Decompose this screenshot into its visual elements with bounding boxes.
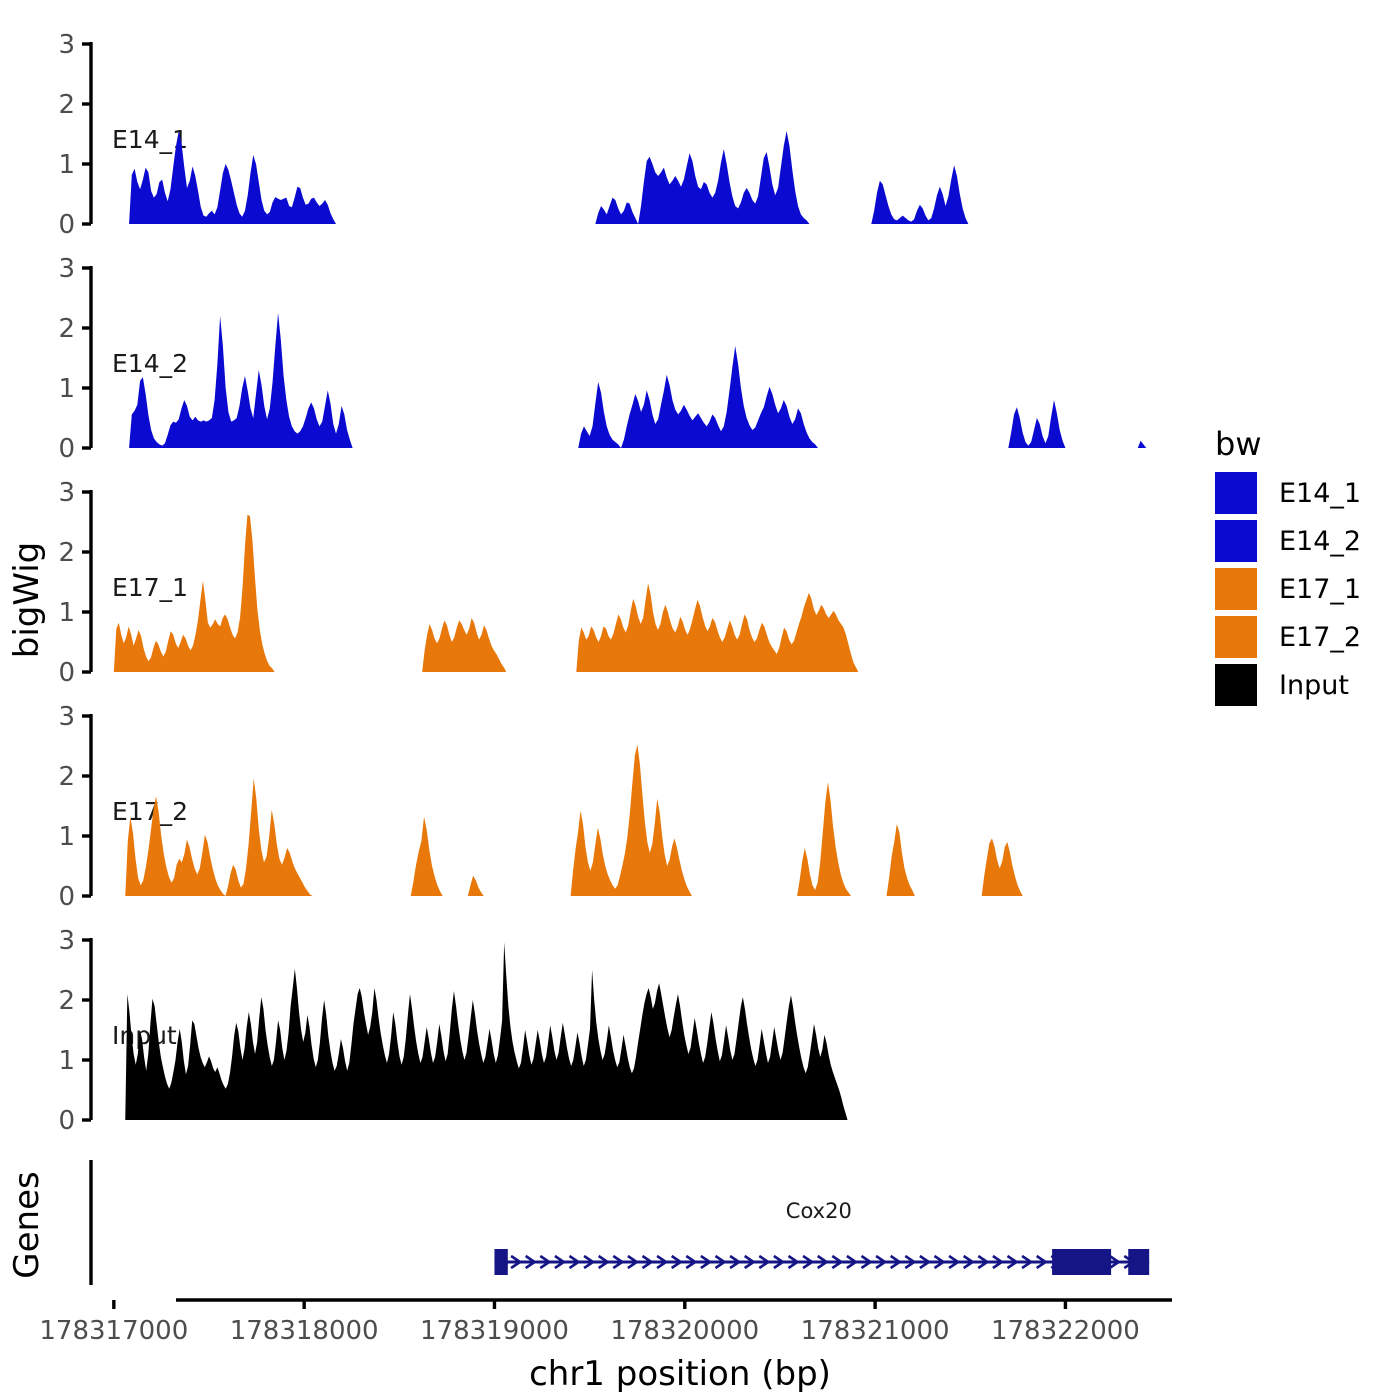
legend-title: bw [1215,425,1261,463]
track-label-e17_2: E17_2 [112,797,188,826]
legend-item-input[interactable]: Input [1215,664,1349,706]
x-tick-label: 178320000 [610,1316,759,1346]
legend-item-e17_1[interactable]: E17_1 [1215,568,1361,610]
x-tick-label: 178317000 [39,1316,188,1346]
track-label-input: Input [112,1021,177,1050]
track-label-e17_1: E17_1 [112,573,188,602]
y-tick-label: 0 [58,210,75,240]
legend-item-e17_2[interactable]: E17_2 [1215,616,1361,658]
x-tick-label: 178319000 [420,1316,569,1346]
gene-exon[interactable] [494,1249,507,1275]
legend-swatch [1215,472,1257,514]
y-tick-label: 3 [58,478,75,508]
gene-name-label: Cox20 [786,1199,852,1223]
legend-item-e14_1[interactable]: E14_1 [1215,472,1361,514]
gene-exon[interactable] [1052,1249,1111,1275]
y-tick-label: 1 [58,1046,75,1076]
legend-label: E17_2 [1279,622,1361,653]
y-tick-label: 1 [58,598,75,628]
y-tick-label: 0 [58,1106,75,1136]
legend-label: E14_2 [1279,526,1361,557]
track-label-e14_2: E14_2 [112,349,188,378]
x-tick-label: 178318000 [230,1316,379,1346]
legend-swatch [1215,616,1257,658]
y-tick-label: 3 [58,926,75,956]
y-tick-label: 0 [58,658,75,688]
legend-swatch [1215,664,1257,706]
x-tick-label: 178321000 [801,1316,950,1346]
figure-canvas: 0123E14_10123E14_20123E17_10123E17_20123… [0,0,1400,1400]
gene-exon[interactable] [1128,1249,1149,1275]
legend-item-e14_2[interactable]: E14_2 [1215,520,1361,562]
y-tick-label: 3 [58,254,75,284]
legend-label: E14_1 [1279,478,1361,509]
y-tick-label: 3 [58,702,75,732]
legend-label: E17_1 [1279,574,1361,605]
y-tick-label: 1 [58,374,75,404]
y-tick-label: 0 [58,434,75,464]
legend-swatch [1215,568,1257,610]
y-tick-label: 3 [58,30,75,60]
genome-browser-figure: 0123E14_10123E14_20123E17_10123E17_20123… [0,0,1400,1400]
legend-swatch [1215,520,1257,562]
y-tick-label: 2 [58,762,75,792]
x-axis-title: chr1 position (bp) [529,1354,831,1394]
y-tick-label: 2 [58,90,75,120]
y-tick-label: 2 [58,986,75,1016]
y-axis-title-genes: Genes [7,1171,47,1278]
y-tick-label: 2 [58,314,75,344]
y-tick-label: 2 [58,538,75,568]
y-axis-title-bigwig: bigWig [7,542,47,659]
y-tick-label: 1 [58,822,75,852]
legend-label: Input [1279,670,1349,701]
x-tick-label: 178322000 [991,1316,1140,1346]
y-tick-label: 0 [58,882,75,912]
y-tick-label: 1 [58,150,75,180]
